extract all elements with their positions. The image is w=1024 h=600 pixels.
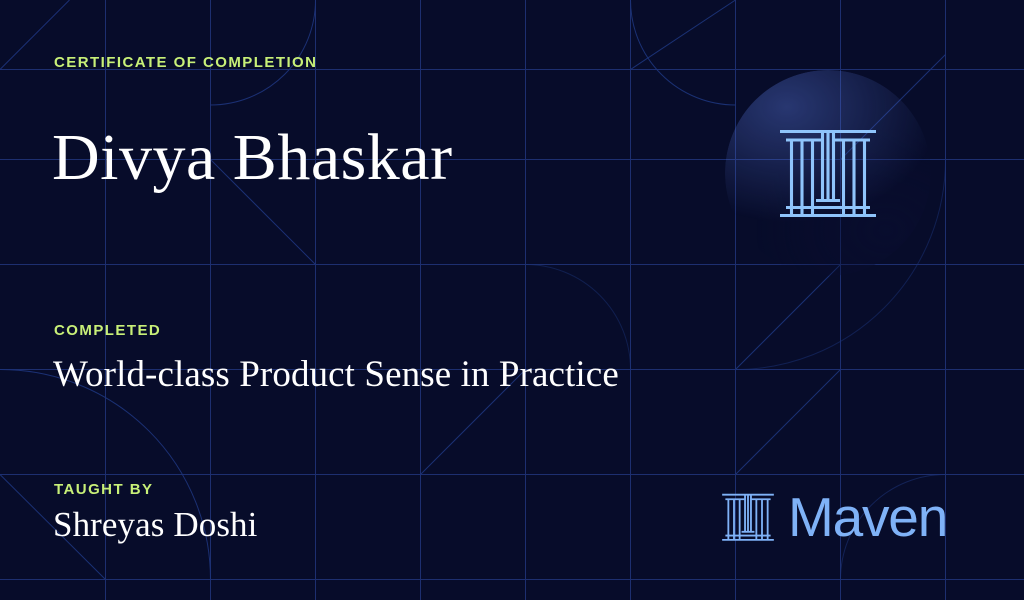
maven-columns-icon: [720, 489, 776, 545]
taught-by-label: TAUGHT BY: [54, 481, 153, 498]
maven-wordmark: Maven: [788, 489, 947, 545]
course-title: World-class Product Sense in Practice: [53, 352, 619, 398]
certificate-canvas: CERTIFICATE OF COMPLETION Divya Bhaskar …: [0, 0, 1024, 600]
maven-columns-badge-icon: [776, 121, 880, 225]
recipient-name: Divya Bhaskar: [52, 122, 453, 194]
instructor-name: Shreyas Doshi: [53, 503, 257, 547]
maven-seal-badge: [725, 70, 931, 276]
maven-brand-lockup[interactable]: Maven: [720, 489, 947, 545]
certificate-eyebrow-label: CERTIFICATE OF COMPLETION: [54, 54, 317, 71]
completed-label: COMPLETED: [54, 322, 161, 339]
